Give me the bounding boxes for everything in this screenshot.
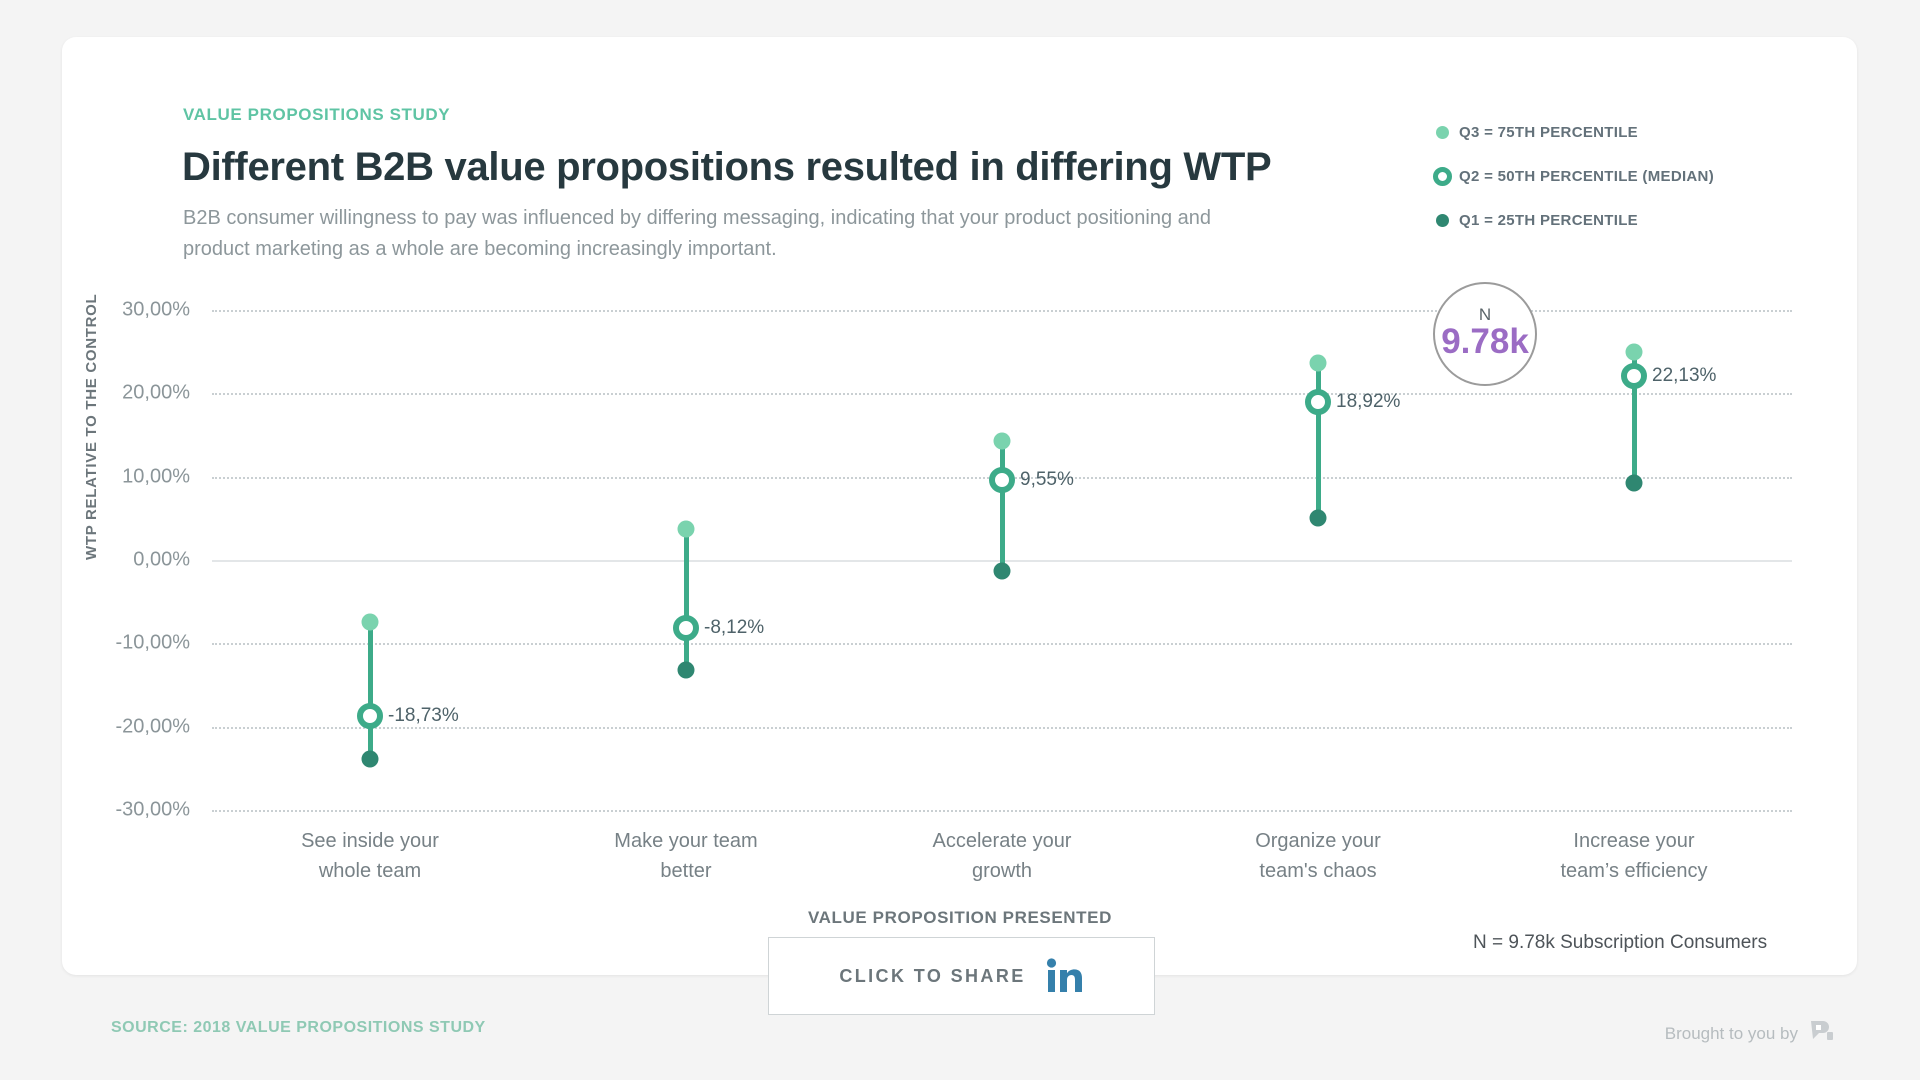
range-stem xyxy=(368,622,373,760)
median-value-label: 18,92% xyxy=(1336,391,1400,413)
y-axis-tick-label: -10,00% xyxy=(60,632,190,655)
sample-size-note: N = 9.78k Subscription Consumers xyxy=(1473,932,1767,954)
q3-point[interactable] xyxy=(362,613,379,630)
priceintelligently-logo-icon xyxy=(1809,1018,1835,1049)
share-label: CLICK TO SHARE xyxy=(839,966,1025,987)
median-value-label: 22,13% xyxy=(1652,365,1716,387)
q3-point[interactable] xyxy=(994,432,1011,449)
x-axis-tick-label-line: See inside your xyxy=(240,826,500,856)
x-axis-tick-label-line: growth xyxy=(872,856,1132,886)
q1-point[interactable] xyxy=(1626,475,1643,492)
gridline xyxy=(212,810,1792,812)
attribution: Brought to you by xyxy=(1665,1018,1835,1049)
legend-item-label: Q3 = 75TH PERCENTILE xyxy=(1459,124,1638,141)
range-stem xyxy=(684,529,689,670)
x-axis-tick-label-line: better xyxy=(556,856,816,886)
q1-point[interactable] xyxy=(994,562,1011,579)
q3-point[interactable] xyxy=(678,521,695,538)
badge-value: 9.78k xyxy=(1441,324,1529,360)
q2-point[interactable] xyxy=(989,467,1015,493)
attribution-label: Brought to you by xyxy=(1665,1024,1798,1044)
gridline xyxy=(212,310,1792,312)
q2-point[interactable] xyxy=(673,615,699,641)
q2-point[interactable] xyxy=(1305,389,1331,415)
x-axis-tick-label: Accelerate yourgrowth xyxy=(872,826,1132,886)
y-axis-title: WTP RELATIVE TO THE CONTROL xyxy=(83,294,100,560)
x-axis-tick-label-line: Accelerate your xyxy=(872,826,1132,856)
legend-item-q3[interactable]: Q3 = 75TH PERCENTILE xyxy=(1425,110,1805,154)
infographic-canvas: VALUE PROPOSITIONS STUDY Different B2B v… xyxy=(0,0,1920,1080)
q1-marker-icon xyxy=(1425,214,1459,227)
x-axis-tick-label: Make your teambetter xyxy=(556,826,816,886)
x-axis-title: VALUE PROPOSITION PRESENTED xyxy=(0,908,1920,928)
x-axis-tick-label: See inside yourwhole team xyxy=(240,826,500,886)
x-axis-tick-label-line: Make your team xyxy=(556,826,816,856)
q2-point[interactable] xyxy=(1621,363,1647,389)
median-value-label: -18,73% xyxy=(388,705,459,727)
legend-item-q1[interactable]: Q1 = 25TH PERCENTILE xyxy=(1425,198,1805,242)
y-axis-tick-label: 10,00% xyxy=(60,465,190,488)
y-axis-tick-label: 30,00% xyxy=(60,299,190,322)
y-axis-tick-label: 0,00% xyxy=(60,549,190,572)
linkedin-icon xyxy=(1044,956,1084,996)
plot-area: -18,73%See inside yourwhole team-8,12%Ma… xyxy=(212,310,1792,810)
subtitle: B2B consumer willingness to pay was infl… xyxy=(183,203,1243,265)
legend-item-label: Q2 = 50TH PERCENTILE (MEDIAN) xyxy=(1459,168,1714,185)
median-value-label: -8,12% xyxy=(704,617,764,639)
share-button[interactable]: CLICK TO SHARE xyxy=(768,937,1155,1015)
q3-marker-icon xyxy=(1425,126,1459,139)
x-axis-tick-label: Organize yourteam's chaos xyxy=(1188,826,1448,886)
x-axis-tick-label: Increase yourteam’s efficiency xyxy=(1504,826,1764,886)
y-axis-tick-label: -20,00% xyxy=(60,715,190,738)
q2-marker-icon xyxy=(1425,167,1459,186)
gridline xyxy=(212,643,1792,645)
gridline xyxy=(212,393,1792,395)
legend-item-q2[interactable]: Q2 = 50TH PERCENTILE (MEDIAN) xyxy=(1425,154,1805,198)
x-axis-tick-label-line: Organize your xyxy=(1188,826,1448,856)
q1-point[interactable] xyxy=(1310,509,1327,526)
q1-point[interactable] xyxy=(678,662,695,679)
x-axis-tick-label-line: team’s efficiency xyxy=(1504,856,1764,886)
y-axis-tick-label: -30,00% xyxy=(60,799,190,822)
sample-size-badge: N 9.78k xyxy=(1433,282,1537,386)
x-axis-tick-label-line: team's chaos xyxy=(1188,856,1448,886)
page-title: Different B2B value propositions resulte… xyxy=(182,145,1271,190)
range-stem xyxy=(1316,363,1321,517)
source-note: SOURCE: 2018 VALUE PROPOSITIONS STUDY xyxy=(111,1019,486,1037)
range-stem xyxy=(1000,441,1005,571)
q2-point[interactable] xyxy=(357,703,383,729)
y-axis-tick-label: 20,00% xyxy=(60,382,190,405)
chart-legend: Q3 = 75TH PERCENTILE Q2 = 50TH PERCENTIL… xyxy=(1425,110,1805,242)
legend-item-label: Q1 = 25TH PERCENTILE xyxy=(1459,212,1638,229)
x-axis-tick-label-line: whole team xyxy=(240,856,500,886)
median-value-label: 9,55% xyxy=(1020,469,1074,491)
q3-point[interactable] xyxy=(1310,355,1327,372)
q1-point[interactable] xyxy=(362,751,379,768)
q3-point[interactable] xyxy=(1626,343,1643,360)
x-axis-tick-label-line: Increase your xyxy=(1504,826,1764,856)
eyebrow-label: VALUE PROPOSITIONS STUDY xyxy=(183,105,450,125)
